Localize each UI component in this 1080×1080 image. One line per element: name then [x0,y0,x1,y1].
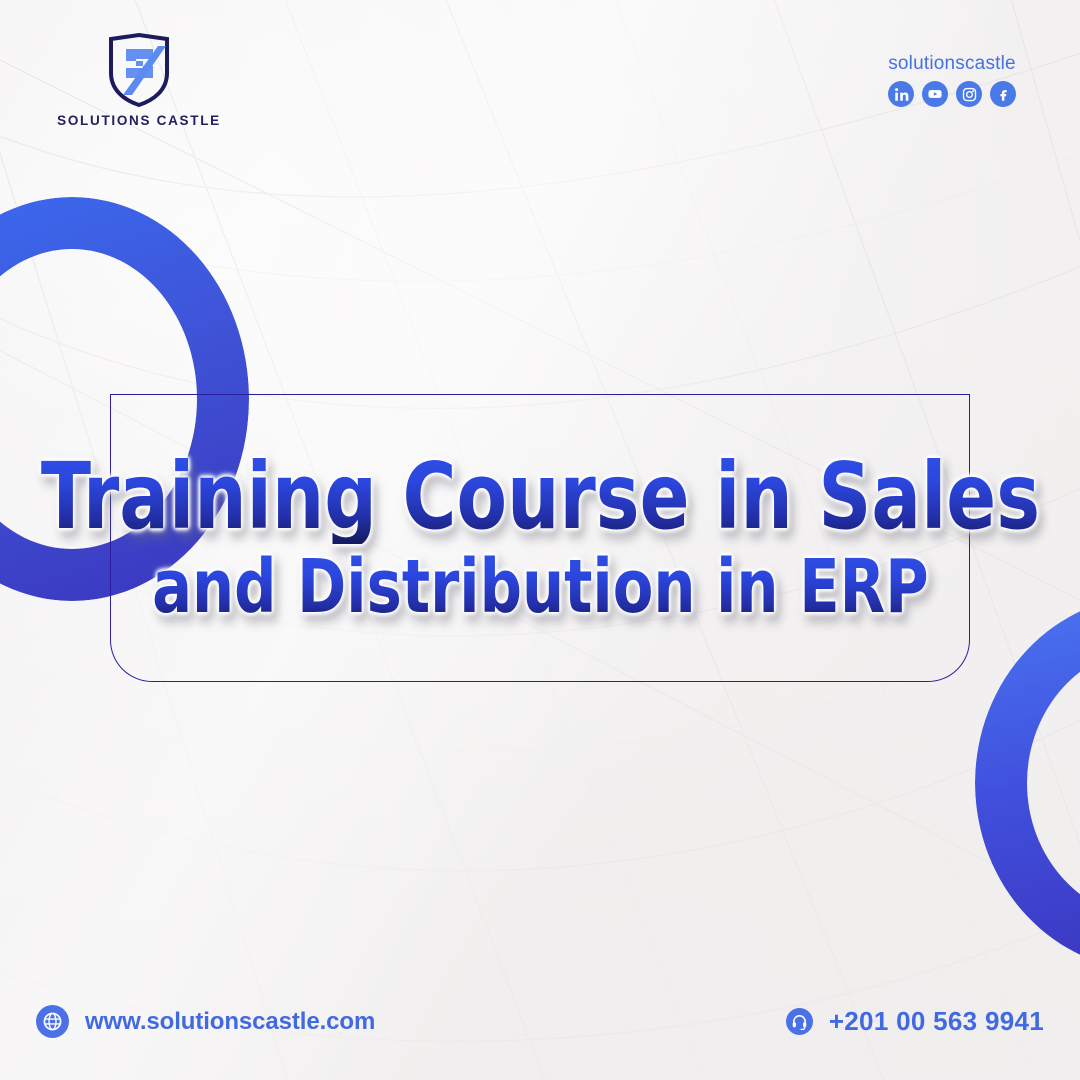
social-instagram-button[interactable] [956,81,982,107]
globe-icon[interactable] [36,1005,69,1038]
instagram-icon [962,87,977,102]
youtube-icon [927,86,943,102]
headline-block: Training Course in Sales and Distributio… [110,394,970,682]
linkedin-icon [894,87,909,102]
footer-phone[interactable]: +201 00 563 9941 [786,1006,1044,1037]
social-linkedin-button[interactable] [888,81,914,107]
handle-text: solutionscastle [888,54,1016,73]
headset-glyph-icon [791,1013,808,1030]
globe-glyph-icon [42,1011,63,1032]
social-facebook-button[interactable] [990,81,1016,107]
social-header: solutionscastle [862,54,1042,107]
headline-line-2: and Distribution in ERP [152,550,929,625]
phone-text: +201 00 563 9941 [829,1006,1044,1037]
headline-line-1: Training Course in Sales [40,450,1039,544]
footer-website[interactable]: www.solutionscastle.com [36,1005,375,1038]
social-row [888,81,1016,107]
headset-icon[interactable] [786,1008,813,1035]
poster-canvas: SOLUTIONS CASTLE solutionscastle [0,0,1080,1080]
social-youtube-button[interactable] [922,81,948,107]
facebook-icon [996,87,1011,102]
brand-wordmark: SOLUTIONS CASTLE [57,113,221,128]
brand-logo[interactable]: SOLUTIONS CASTLE [34,33,244,128]
website-text: www.solutionscastle.com [85,1008,375,1036]
shield-logo-icon [106,33,172,107]
